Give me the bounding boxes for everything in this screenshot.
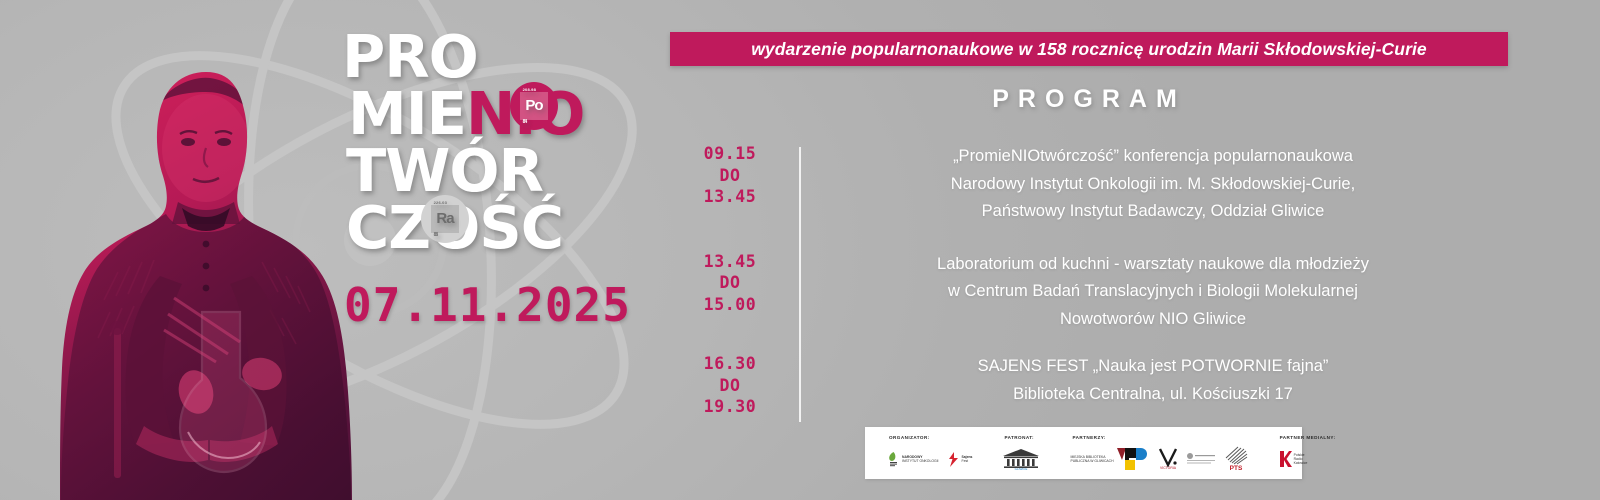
schedule-time: 09.15 DO 13.45 [670,143,790,208]
sponsor-logos: Polskie Radio Katowice [1278,442,1308,476]
logo-caption-line2: INSTYTUT ONKOLOGII [902,459,939,463]
sponsor-strip: ORGANIZATOR: NARODOWY INSTYTUT ONKOLOGII [865,427,1302,479]
schedule-time-from: 13.45 [670,251,790,273]
schedule-time-sep: DO [670,272,790,294]
schedule-desc-line: Państwowy Instytut Badawczy, Oddział Gli… [818,198,1488,226]
schedule-time-sep: DO [670,375,790,397]
logo-caption-line3: Katowice [1294,461,1308,465]
logo-line-twor: TWÓR [342,142,702,199]
element-po-mass: 208.98 [523,61,536,118]
sponsor-group-partnerzy: PARTNERZY: MIEJSKA BIBLIOTEKA PUBLICZNA … [1062,431,1255,476]
sponsor-group-label: ORGANIZATOR: [889,435,930,440]
logo-caption-line2: PUBLICZNA W GLIWICACH [1070,459,1113,463]
schedule-desc-line: Laboratorium od kuchni - warsztaty nauko… [818,251,1488,279]
right-column: wydarzenie popularnonaukowe w 158 roczni… [670,0,1575,500]
schedule-row: 09.15 DO 13.45 „PromieNIOtwórczość” konf… [670,143,1508,226]
logo-line-mienio: MIENIO 84 Po 208.98 [342,85,702,142]
logo-caption: Polskie Radio Katowice [1294,453,1308,466]
sponsor-logos: GLIWICE [1002,442,1040,476]
victoria-wordmark: VICTORIA [1160,466,1177,470]
logo-caption: MIEJSKA BIBLIOTEKA PUBLICZNA W GLIWICACH [1070,455,1113,463]
schedule-desc-line: „PromieNIOtwórczość” konferencja popular… [818,143,1488,171]
schedule-time: 16.30 DO 19.30 [670,353,790,418]
event-subtitle-ribbon: wydarzenie popularnonaukowe w 158 roczni… [670,32,1508,66]
logo-caption-line2: Fest [962,459,969,463]
event-logo-block: PRO MIENIO 84 Po 208.98 TWÓR CZOŚĆ 88 Ra… [342,28,702,332]
mbp-gliwice-logo: MIEJSKA BIBLIOTEKA PUBLICZNA W GLIWICACH [1070,446,1149,472]
schedule-time-from: 09.15 [670,143,790,165]
element-ra-mass: 226.03 [434,174,447,231]
sponsor-group-label: PARTNERZY: [1072,435,1105,440]
sponsor-group-patronat: PATRONAT: [994,431,1048,476]
schedule-time-sep: DO [670,165,790,187]
schedule-desc-line: Nowotworów NIO Gliwice [818,306,1488,334]
victoria-logo: VICTORIA [1158,448,1178,470]
schedule-time-to: 19.30 [670,396,790,418]
event-subtitle-text: wydarzenie popularnonaukowe w 158 roczni… [751,39,1427,60]
sponsor-group-partner-medialny: PARTNER MEDIALNY: Polskie Radio Katowice [1270,431,1344,476]
program-schedule: 09.15 DO 13.45 „PromieNIOtwórczość” konf… [670,143,1508,426]
schedule-row: 16.30 DO 19.30 SAJENS FEST „Nauka jest P… [670,353,1508,418]
logo-caption: NARODOWY INSTYTUT ONKOLOGII [902,455,939,463]
element-badge-po: 84 Po 208.98 [510,82,558,130]
partner-grey-logo [1186,451,1216,467]
schedule-time-to: 15.00 [670,294,790,316]
schedule-desc-line: Narodowy Instytut Onkologii im. M. Skłod… [818,171,1488,199]
sponsor-group-organizator: ORGANIZATOR: NARODOWY INSTYTUT ONKOLOGII [879,431,980,476]
sponsor-group-label: PATRONAT: [1004,435,1034,440]
schedule-desc-line: SAJENS FEST „Nauka jest POTWORNIE fajna” [818,353,1488,381]
pts-logo: PTS [1224,446,1248,472]
pts-wordmark: PTS [1229,465,1242,472]
logo-caption: Sajens Fest [962,455,973,463]
sponsor-logos: MIEJSKA BIBLIOTEKA PUBLICZNA W GLIWICACH [1070,442,1247,476]
sponsor-group-label: PARTNER MEDIALNY: [1280,435,1336,440]
schedule-description: Laboratorium od kuchni - warsztaty nauko… [790,251,1508,334]
schedule-time: 13.45 DO 15.00 [670,251,790,316]
miasto-gliwice-logo: GLIWICE [1002,448,1040,470]
sajens-fest-logo: Sajens Fest [947,452,973,467]
schedule-desc-line: w Centrum Badań Translacyjnych i Biologi… [818,278,1488,306]
event-date: 07.11.2025 [344,278,702,332]
nio-leaf-logo: NARODOWY INSTYTUT ONKOLOGII [887,451,939,467]
logo-line-czosc: CZOŚĆ 88 Ra 226.03 [342,199,702,256]
sponsor-logos: NARODOWY INSTYTUT ONKOLOGII Sajens Fest [887,442,972,476]
schedule-desc-line: Biblioteka Centralna, ul. Kościuszki 17 [818,381,1488,409]
element-badge-ra-square: 88 Ra 226.03 [431,205,460,234]
schedule-time-from: 16.30 [670,353,790,375]
schedule-description: SAJENS FEST „Nauka jest POTWORNIE fajna”… [790,353,1508,408]
program-heading: PROGRAM [670,85,1508,114]
gliwice-wordmark: GLIWICE [1015,467,1028,470]
schedule-description: „PromieNIOtwórczość” konferencja popular… [790,143,1508,226]
poster-root: PRO MIENIO 84 Po 208.98 TWÓR CZOŚĆ 88 Ra… [0,0,1600,500]
radio-katowice-logo: Polskie Radio Katowice [1278,450,1308,468]
schedule-time-to: 13.45 [670,186,790,208]
element-badge-ra: 88 Ra 226.03 [421,195,469,243]
element-badge-po-square: 84 Po 208.98 [520,92,549,121]
schedule-row: 13.45 DO 15.00 Laboratorium od kuchni - … [670,251,1508,334]
marie-curie-portrait [56,62,356,500]
